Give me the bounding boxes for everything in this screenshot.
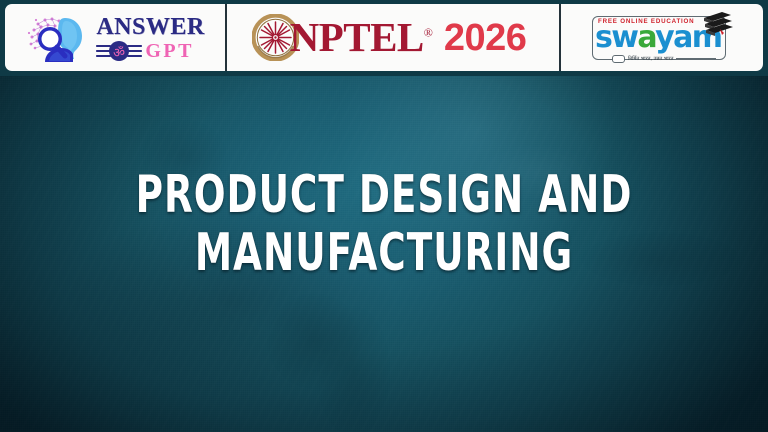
nptel-logo: NPTEL® 2026	[252, 14, 527, 61]
swayam-rule	[676, 58, 716, 59]
registered-trademark-icon: ®	[424, 25, 433, 39]
slide-title-line-1: PRODUCT DESIGN AND	[77, 166, 691, 224]
slide-title: PRODUCT DESIGN AND MANUFACTURING	[0, 166, 768, 282]
om-symbol-icon: ॐ	[96, 40, 142, 62]
swayam-hindi-tagline: निर्मित भारत, उन्नत भारत	[628, 56, 673, 62]
swayam-logo: FREE ONLINE EDUCATION swayam निर्मित भार…	[586, 10, 738, 66]
swayam-pill-icon	[612, 55, 625, 63]
answergpt-word-answer: ANSWER	[96, 15, 204, 39]
swayam-accent-letter: a	[637, 20, 655, 55]
nptel-word-text: NPTEL	[290, 14, 424, 60]
slide-screen: ANSWER ॐ	[0, 0, 768, 432]
logo-header-bar: ANSWER ॐ	[0, 0, 768, 76]
answergpt-wordmark: ANSWER ॐ	[96, 15, 204, 62]
logo-panel-answergpt[interactable]: ANSWER ॐ	[5, 4, 225, 71]
stacked-books-icon	[700, 9, 734, 39]
svg-text:ॐ: ॐ	[113, 46, 125, 61]
answergpt-word-gpt: GPT	[145, 41, 194, 61]
nptel-year: 2026	[444, 19, 527, 57]
logo-panel-nptel[interactable]: NPTEL® 2026	[227, 4, 559, 71]
slide-title-line-2: MANUFACTURING	[77, 224, 691, 282]
swayam-hindi-tagline-row: निर्मित भारत, उन्नत भारत	[612, 55, 716, 63]
nptel-wordmark: NPTEL®	[290, 17, 433, 58]
logo-panel-swayam[interactable]: FREE ONLINE EDUCATION swayam निर्मित भार…	[561, 4, 763, 71]
head-profile-brain-search-icon	[25, 14, 91, 64]
answergpt-logo: ANSWER ॐ	[25, 14, 204, 64]
